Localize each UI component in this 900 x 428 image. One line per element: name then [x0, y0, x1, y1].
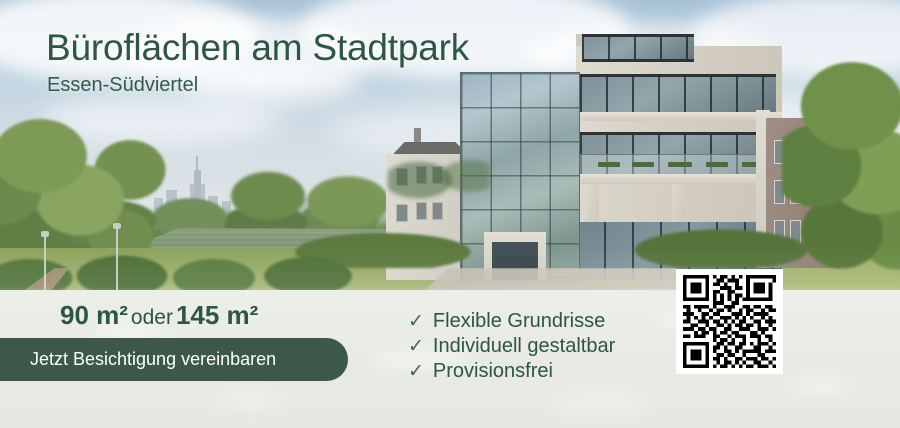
list-item: ✓ Flexible Grundrisse: [408, 310, 615, 333]
property-ad-banner: Büroflächen am Stadtpark Essen-Südvierte…: [0, 0, 900, 428]
feature-label: Flexible Grundrisse: [433, 310, 605, 333]
tower-reflection: [388, 146, 490, 208]
check-icon: ✓: [408, 337, 424, 356]
list-item: ✓ Individuell gestaltbar: [408, 335, 615, 358]
size-option-second: 145 m²: [176, 300, 258, 330]
size-options: 90 m²oder145 m²: [60, 300, 258, 331]
qr-code-graphic: [682, 275, 777, 368]
size-conjunction: oder: [128, 306, 176, 329]
schedule-viewing-label: Jetzt Besichtigung vereinbaren: [30, 349, 276, 370]
feature-label: Provisionsfrei: [433, 360, 553, 383]
size-option-first: 90 m²: [60, 300, 128, 330]
list-item: ✓ Provisionsfrei: [408, 360, 615, 383]
feature-list: ✓ Flexible Grundrisse ✓ Individuell gest…: [408, 310, 615, 383]
check-icon: ✓: [408, 312, 424, 331]
schedule-viewing-button[interactable]: Jetzt Besichtigung vereinbaren: [0, 338, 348, 381]
location-subtitle: Essen-Südviertel: [47, 74, 198, 97]
qr-code[interactable]: [676, 269, 783, 374]
page-title: Büroflächen am Stadtpark: [46, 27, 469, 69]
check-icon: ✓: [408, 362, 424, 381]
feature-label: Individuell gestaltbar: [433, 335, 615, 358]
